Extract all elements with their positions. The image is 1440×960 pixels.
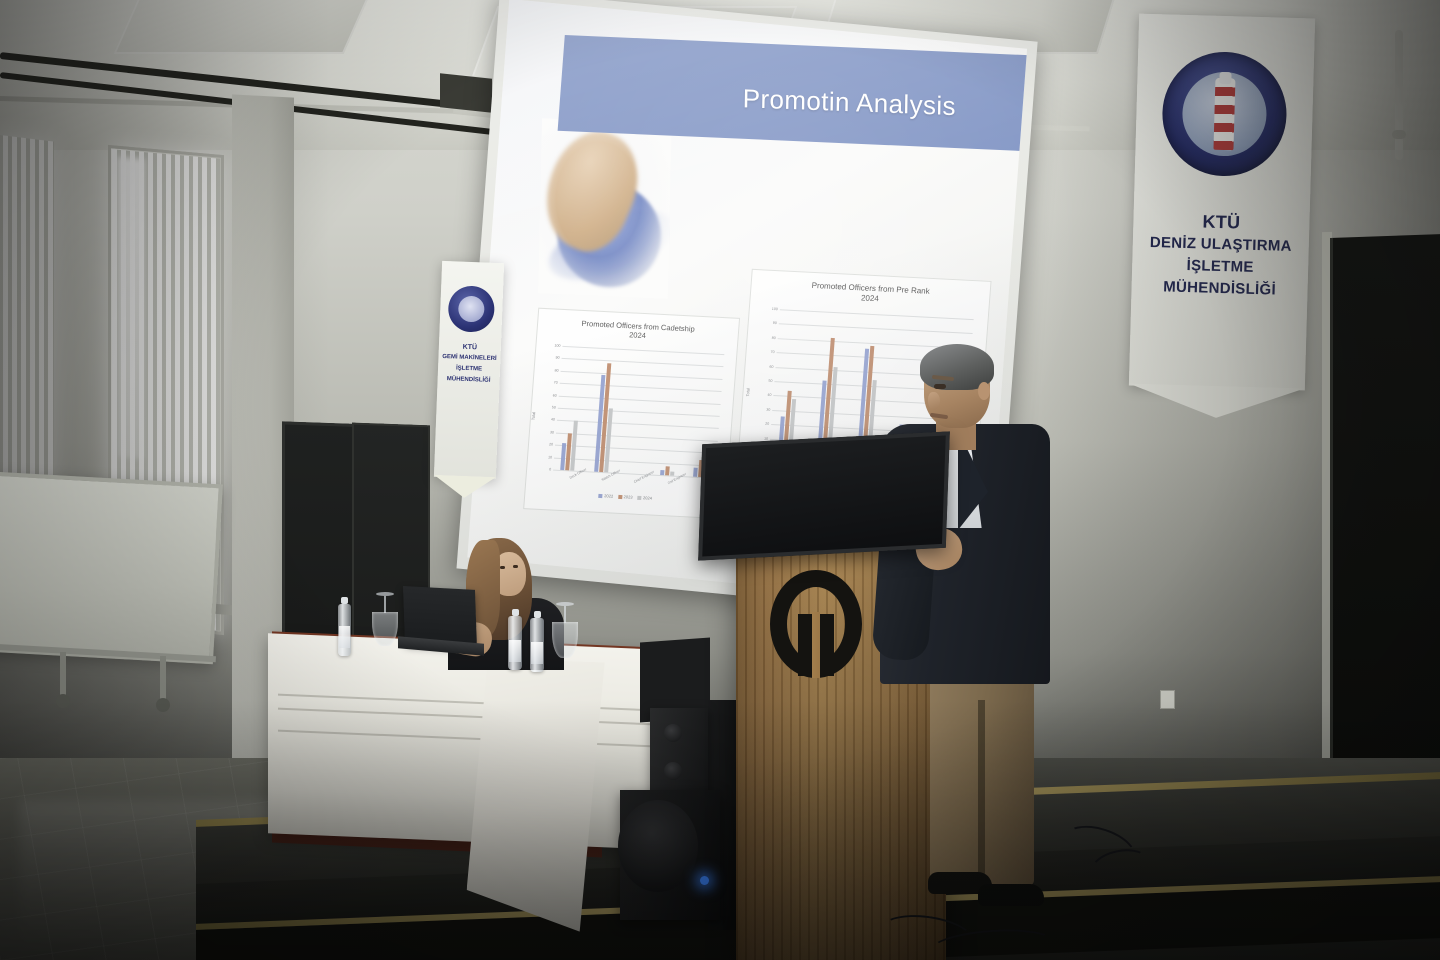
tablecloth-stripe	[278, 730, 678, 749]
presenter-eye	[934, 384, 946, 389]
legend-item: 2023	[618, 494, 633, 500]
bottle-label	[339, 626, 350, 648]
power-led-indicator	[700, 876, 709, 885]
presenter-nose	[928, 392, 940, 410]
glass-foot	[556, 602, 574, 606]
monitor-bezel	[698, 431, 950, 560]
water-bottle	[530, 618, 544, 672]
y-axis-tick-label: 10	[764, 436, 768, 440]
chart-legend-left: 202220232024	[525, 489, 725, 504]
legend-item: 2022	[599, 493, 614, 499]
y-axis-tick-label: 40	[551, 418, 555, 422]
water-bottle	[338, 604, 351, 656]
banner-left-line3: İŞLETME	[438, 365, 500, 373]
chart-bar	[670, 472, 674, 476]
y-axis-title-right: Total	[745, 388, 751, 397]
ktu-logo-bar	[820, 614, 834, 676]
y-axis-tick-label: 90	[773, 321, 777, 325]
bottle-cap	[534, 611, 541, 618]
seated-person-eye	[500, 566, 505, 569]
banner-left-line2: GEMİ MAKİNELERİ	[438, 354, 500, 362]
banner-left-line4: MÜHENDİSLİĞİ	[438, 376, 500, 384]
whiteboard	[0, 472, 223, 664]
bottle-cap	[341, 597, 348, 604]
y-axis-tick-label: 50	[552, 405, 556, 409]
y-axis-tick-label: 40	[767, 393, 771, 397]
bottle-label	[509, 640, 521, 662]
y-axis-tick-label: 30	[766, 407, 770, 411]
presenter-trouser-crease	[978, 700, 985, 888]
y-axis-tick-label: 50	[768, 379, 772, 383]
ktu-logo-bar	[798, 614, 812, 676]
chart-title-right: Promoted Officers from Pre Rank 2024	[751, 278, 990, 310]
y-axis-tick-label: 70	[554, 381, 558, 385]
y-axis-tick-label: 20	[765, 422, 769, 426]
image-fade-mask	[538, 118, 672, 299]
y-axis-tick-label: 80	[554, 368, 558, 372]
speaker-driver	[664, 724, 682, 742]
chart-bar	[693, 468, 698, 477]
y-axis-tick-label: 0	[549, 467, 551, 471]
y-axis-tick-label: 100	[772, 307, 778, 311]
bottle-label	[531, 642, 543, 664]
subwoofer-driver	[618, 800, 698, 892]
presenter-shoe	[978, 884, 1044, 906]
y-axis-tick-label: 10	[548, 455, 552, 459]
whiteboard-leg	[160, 656, 166, 702]
y-axis-tick-label: 30	[550, 430, 554, 434]
y-axis-tick-label: 70	[770, 350, 774, 354]
y-axis-tick-label: 100	[554, 344, 560, 348]
tablecloth-stripe	[278, 708, 678, 727]
y-axis-tick-label: 60	[553, 393, 557, 397]
chart-bar	[660, 470, 664, 475]
podium-monitor[interactable]	[698, 431, 950, 560]
y-axis-title-left: Total	[531, 412, 537, 421]
legend-swatch	[637, 496, 641, 500]
chart-title-left: Promoted Officers from Cadetship 2024	[537, 317, 738, 346]
y-axis-tick-label: 90	[555, 356, 559, 360]
chart-bar	[665, 467, 670, 476]
seated-person-eye	[513, 565, 518, 568]
department-banner-left: KTÜ GEMİ MAKİNELERİ İŞLETME MÜHENDİSLİĞİ	[434, 261, 504, 479]
conduit-junction-box	[440, 73, 492, 112]
glass-stem	[384, 596, 386, 613]
legend-swatch	[599, 494, 603, 498]
y-axis-tick-label: 60	[769, 364, 773, 368]
presenter-ear	[978, 382, 990, 400]
legend-swatch	[618, 495, 622, 499]
water-bottle	[508, 616, 522, 670]
y-axis-tick-label: 80	[772, 336, 776, 340]
wall-switch[interactable]	[1160, 690, 1175, 709]
whiteboard-leg	[60, 652, 66, 698]
legend-item: 2024	[637, 495, 652, 501]
loudspeaker	[650, 708, 708, 800]
presentation-room-photo: Promotin Analysis Promoted Officers from…	[0, 0, 1440, 960]
y-axis-tick-label: 20	[549, 443, 553, 447]
whiteboard-caster	[56, 694, 70, 708]
ktu-logo-gap	[812, 612, 820, 678]
hand-globe-image	[538, 118, 672, 299]
banner-left-line1: KTÜ	[439, 343, 501, 352]
whiteboard-caster	[156, 698, 170, 712]
glass-stem	[564, 606, 566, 623]
x-axis-tick-label: Chief Engineer	[628, 467, 660, 487]
bottle-cap	[512, 609, 519, 616]
speaker-driver	[664, 762, 682, 780]
glass-foot	[376, 592, 394, 596]
